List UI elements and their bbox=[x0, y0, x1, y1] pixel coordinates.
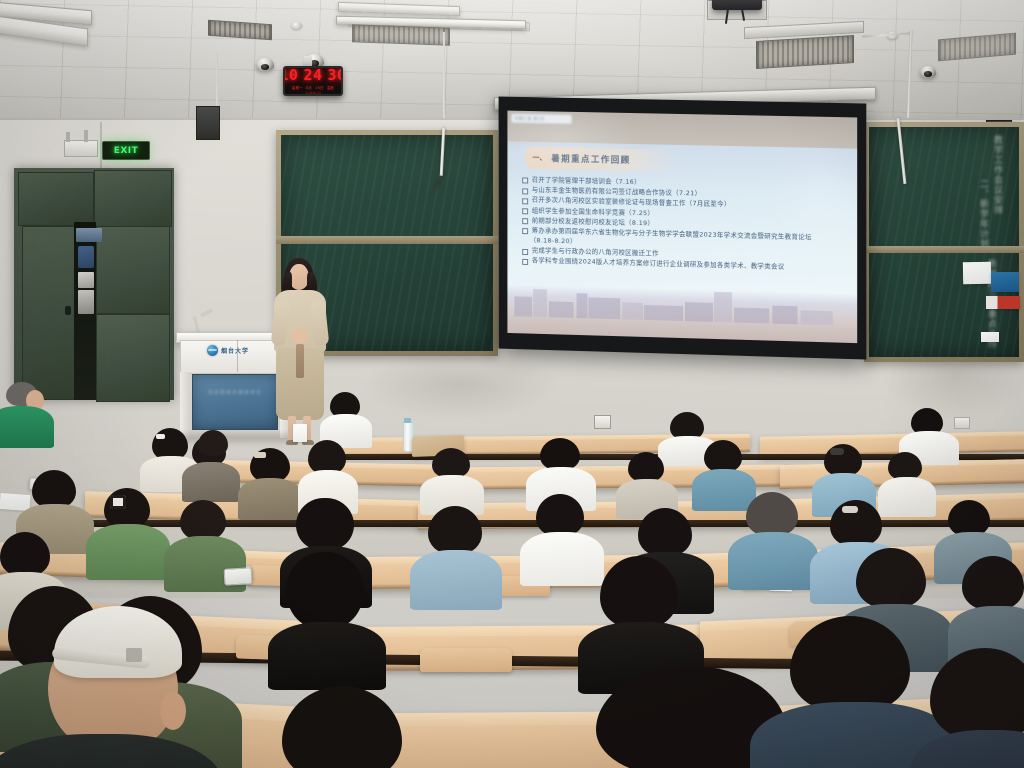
door-side-panel[interactable] bbox=[96, 226, 170, 314]
person-hair bbox=[432, 448, 470, 478]
person-shoulders bbox=[182, 462, 240, 502]
person-shoulders bbox=[268, 622, 386, 690]
person-hair bbox=[628, 452, 664, 482]
bullet-square-icon bbox=[522, 259, 528, 265]
slide-bullet-list: 召开了学院管理干部培训会（7.16） 与山东丰金生物医药有限公司签订战略合作协议… bbox=[522, 175, 847, 275]
door-transom-right bbox=[94, 170, 172, 227]
clock-hours: 10 bbox=[283, 68, 298, 83]
podium-logo: 烟台大学 bbox=[207, 345, 249, 356]
slide-title-number: 一、 bbox=[533, 153, 547, 163]
wall-socket[interactable] bbox=[954, 417, 970, 429]
person-hair bbox=[962, 556, 1024, 610]
pipe-valve bbox=[66, 132, 70, 142]
ac-vent bbox=[352, 24, 450, 45]
slide-content: 专题汇报 第1页 一、 暑期重点工作回顾 召开了学院管理干部培训会（7.16） … bbox=[507, 111, 857, 344]
clock-seconds: 30 bbox=[328, 68, 343, 83]
slide-corner-tag: 专题汇报 第1页 bbox=[511, 114, 571, 124]
seat-back bbox=[420, 648, 512, 672]
person-shoulders bbox=[238, 478, 302, 520]
bullet-square-icon bbox=[522, 178, 528, 184]
clock-minutes: 24 bbox=[303, 68, 322, 83]
paper-sheet[interactable] bbox=[293, 424, 307, 442]
clock-digits: 10 24 30 bbox=[283, 68, 343, 83]
person-hair bbox=[638, 508, 692, 556]
person-hair bbox=[428, 506, 482, 554]
chalkboard-right: 教学工作会议安排 二、新学年计划 新学期三项重点工作 bbox=[864, 122, 1024, 362]
person-shoulders bbox=[0, 406, 54, 448]
paper-sheet[interactable] bbox=[0, 493, 31, 511]
smoke-detector bbox=[291, 22, 302, 29]
presenter-hands bbox=[291, 328, 309, 343]
clock-footer: 多功能电子钟 bbox=[305, 91, 321, 95]
person-hair bbox=[540, 438, 580, 470]
exit-sign: EXIT bbox=[102, 141, 150, 160]
slide-title-text: 暑期重点工作回顾 bbox=[551, 152, 630, 166]
hair-clip bbox=[254, 452, 266, 458]
door-transom-left bbox=[18, 172, 94, 226]
hair-clip bbox=[110, 495, 126, 509]
wall-poster-photo bbox=[991, 272, 1019, 292]
smartphone[interactable] bbox=[224, 567, 253, 585]
bullet-square-icon bbox=[522, 188, 528, 194]
door-handle[interactable] bbox=[65, 306, 71, 315]
pipe-valve bbox=[84, 130, 88, 142]
podium-leg-left bbox=[180, 372, 190, 438]
projection-screen: 专题汇报 第1页 一、 暑期重点工作回顾 召开了学院管理干部培训会（7.16） … bbox=[499, 97, 867, 360]
conduit-pipe bbox=[443, 32, 445, 120]
clock-label-0: 星期一 bbox=[292, 85, 303, 90]
bullet-square-icon bbox=[522, 249, 528, 255]
person-shoulders bbox=[410, 550, 502, 610]
chalkboard-divider bbox=[864, 246, 1024, 253]
person-hair bbox=[0, 532, 50, 576]
hair-clip bbox=[156, 434, 165, 439]
wall-smudge bbox=[360, 350, 560, 420]
person-shoulders bbox=[878, 477, 936, 517]
wall-poster-small bbox=[981, 332, 999, 342]
person-hair bbox=[286, 552, 364, 628]
university-logo-icon bbox=[207, 345, 218, 356]
lecture-hall-photo: 10 24 30 星期一 8月 26日 温度 多功能电子钟 EXIT bbox=[0, 0, 1024, 768]
hair-clip bbox=[842, 506, 858, 513]
person-hair bbox=[856, 548, 926, 608]
slide-campus-graphic bbox=[507, 284, 857, 343]
person-shoulders bbox=[692, 469, 756, 511]
doorway-equipment bbox=[78, 272, 94, 288]
chalk-writing-0: 教学工作会议安排 bbox=[991, 135, 1003, 243]
bullet-square-icon bbox=[522, 198, 528, 204]
presenter-belt bbox=[296, 344, 304, 378]
doorway-cabinet-top bbox=[76, 228, 102, 242]
dome-camera bbox=[920, 66, 936, 78]
dome-camera bbox=[256, 58, 274, 71]
doorway-equipment bbox=[78, 246, 94, 268]
conduit-pipe bbox=[216, 52, 218, 114]
person-hair bbox=[536, 494, 584, 536]
person-shoulders bbox=[86, 524, 170, 580]
person-hair bbox=[746, 492, 798, 536]
person-shoulders bbox=[520, 532, 604, 586]
person-hair bbox=[308, 440, 346, 474]
clock-label-3: 温度 bbox=[327, 85, 334, 90]
wall-speaker bbox=[196, 106, 220, 140]
bottle-cap bbox=[404, 418, 411, 423]
cap-buckle bbox=[126, 648, 142, 662]
podium-panel-seam bbox=[237, 340, 238, 372]
exit-sign-label: EXIT bbox=[114, 146, 139, 156]
clock-sublabels: 星期一 8月 26日 温度 bbox=[292, 85, 334, 90]
person-hair bbox=[32, 470, 76, 508]
bullet-square-icon bbox=[522, 208, 528, 214]
person-hair bbox=[704, 440, 742, 472]
person-ear bbox=[160, 692, 186, 730]
projector bbox=[712, 0, 762, 10]
person-hair bbox=[296, 498, 354, 550]
hair-clip bbox=[830, 448, 844, 455]
wall-poster-notice bbox=[963, 262, 991, 284]
wall-poster-banner bbox=[986, 296, 1020, 309]
chalkboard-divider bbox=[276, 236, 498, 244]
bullet-square-icon bbox=[522, 228, 528, 234]
led-wall-clock: 10 24 30 星期一 8月 26日 温度 多功能电子钟 bbox=[283, 66, 343, 96]
doorway-equipment bbox=[78, 290, 94, 314]
podium-logo-text: 烟台大学 bbox=[221, 346, 249, 355]
emergency-light bbox=[64, 140, 98, 157]
ac-vent bbox=[756, 35, 854, 69]
slide-title: 一、 暑期重点工作回顾 bbox=[525, 147, 678, 173]
person-hair bbox=[282, 686, 402, 768]
chalkboard-right-face: 教学工作会议安排 二、新学年计划 新学期三项重点工作 bbox=[869, 127, 1019, 357]
person-hair bbox=[948, 500, 990, 536]
clock-label-2: 26日 bbox=[315, 85, 324, 90]
presenter-face bbox=[289, 264, 309, 290]
wall-socket[interactable] bbox=[594, 415, 611, 429]
person-hair bbox=[180, 500, 226, 540]
person-hair bbox=[198, 430, 228, 456]
bullet-square-icon bbox=[522, 218, 528, 224]
person-shoulders bbox=[728, 532, 818, 590]
bullet-text: （8.18-8.20） bbox=[530, 236, 577, 246]
clock-label-1: 8月 bbox=[306, 85, 312, 90]
person-hair bbox=[888, 452, 922, 480]
door-side-panel-lower[interactable] bbox=[96, 314, 170, 402]
